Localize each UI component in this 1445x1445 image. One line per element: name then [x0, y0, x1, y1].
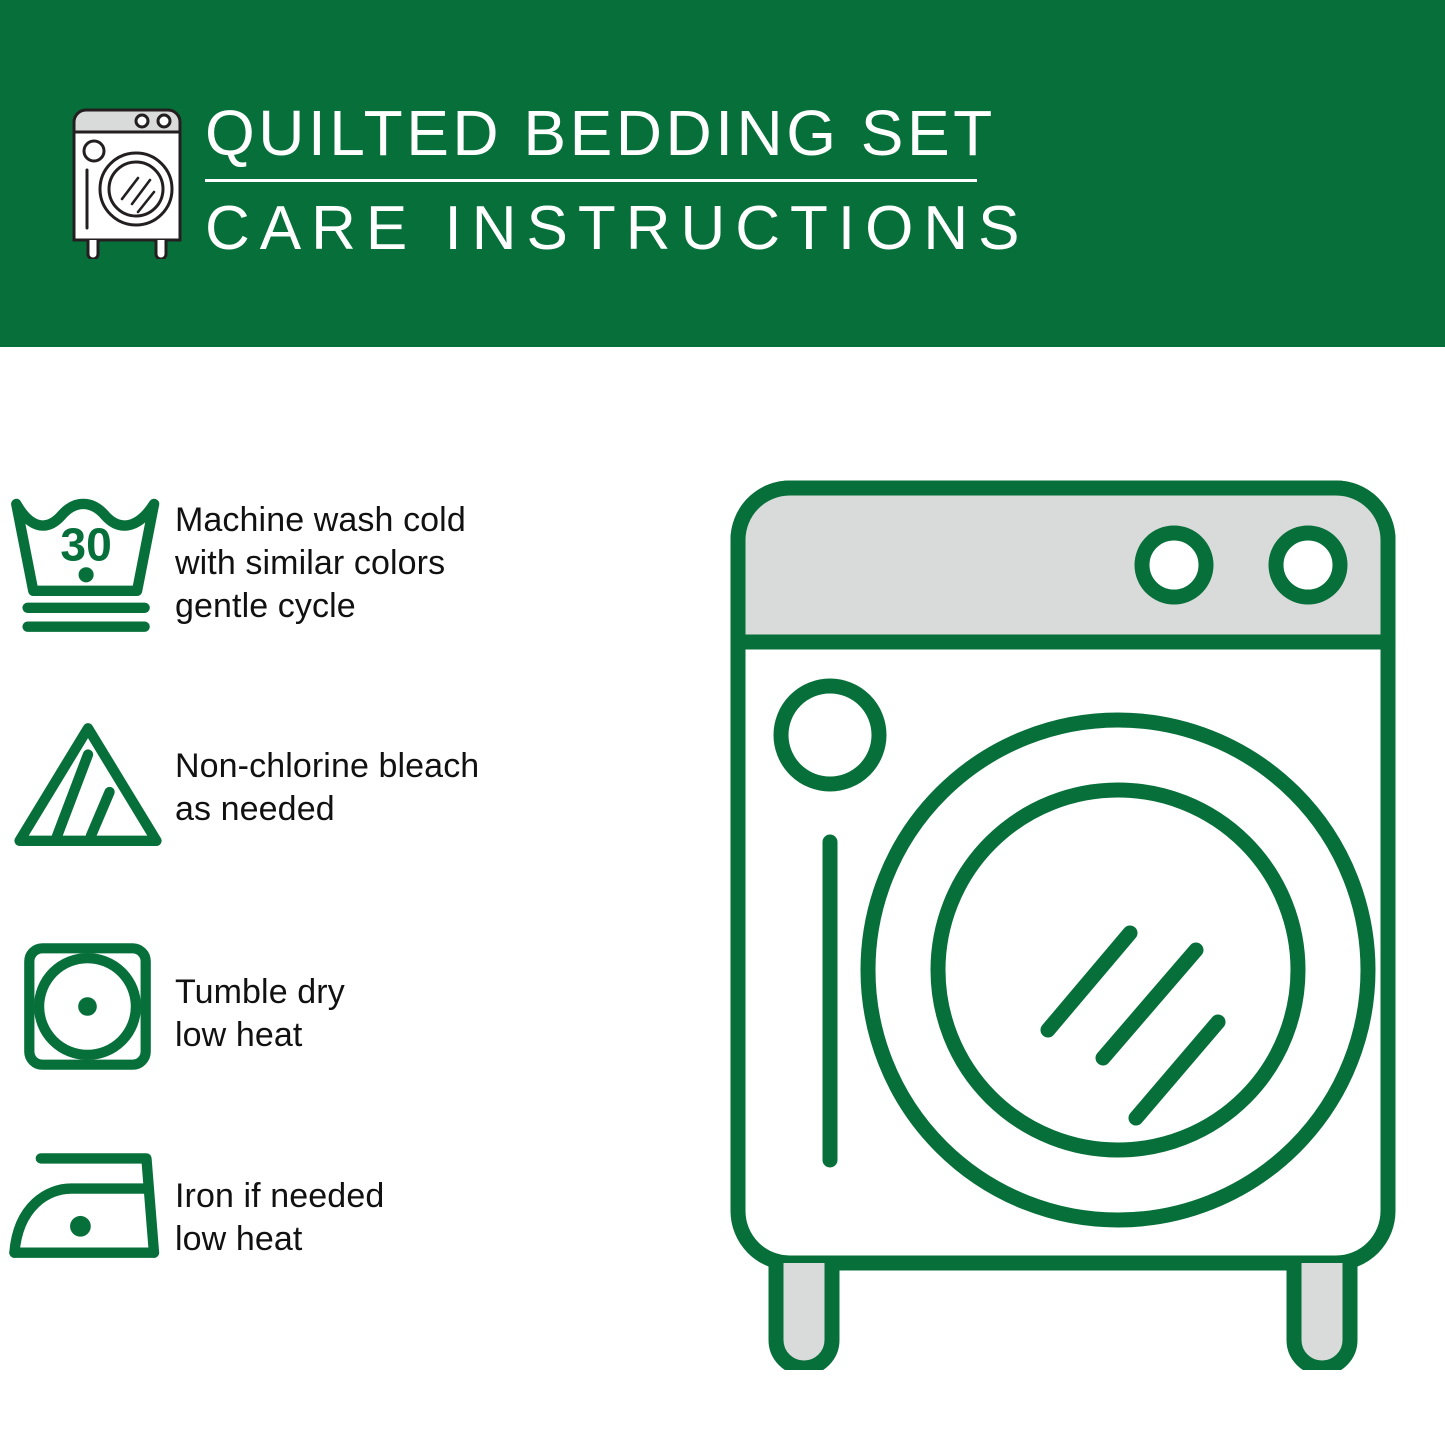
care-instruction-text: Tumble dry low heat: [175, 939, 345, 1057]
header-band: QUILTED BEDDING SET CARE INSTRUCTIONS: [0, 0, 1445, 347]
tumble-dry-low-heat-icon: [0, 939, 175, 1074]
care-instructions-infographic: QUILTED BEDDING SET CARE INSTRUCTIONS 30: [0, 0, 1445, 1445]
care-instruction-item: Iron if needed low heat: [0, 1147, 700, 1265]
wash-tub-30-gentle-icon: 30: [0, 487, 175, 638]
care-instruction-item: 30 Machine wash cold with similar colors…: [0, 487, 700, 638]
care-instruction-text: Machine wash cold with similar colors ge…: [175, 487, 466, 627]
wash-temperature-value: 30: [60, 519, 111, 571]
washing-machine-icon: [64, 104, 194, 259]
front-load-washing-machine-illustration: [718, 470, 1408, 1370]
care-instruction-list: 30 Machine wash cold with similar colors…: [0, 347, 700, 1445]
page-subtitle: CARE INSTRUCTIONS: [205, 196, 995, 261]
page-title: QUILTED BEDDING SET: [205, 100, 995, 167]
care-instruction-text: Non-chlorine bleach as needed: [175, 717, 479, 831]
non-chlorine-bleach-triangle-icon: [0, 717, 175, 853]
care-instruction-text: Iron if needed low heat: [175, 1147, 384, 1261]
care-instruction-item: Tumble dry low heat: [0, 939, 700, 1074]
care-instruction-item: Non-chlorine bleach as needed: [0, 717, 700, 853]
iron-low-heat-icon: [0, 1147, 175, 1265]
header-text-block: QUILTED BEDDING SET CARE INSTRUCTIONS: [205, 100, 995, 261]
title-divider: [205, 179, 977, 182]
